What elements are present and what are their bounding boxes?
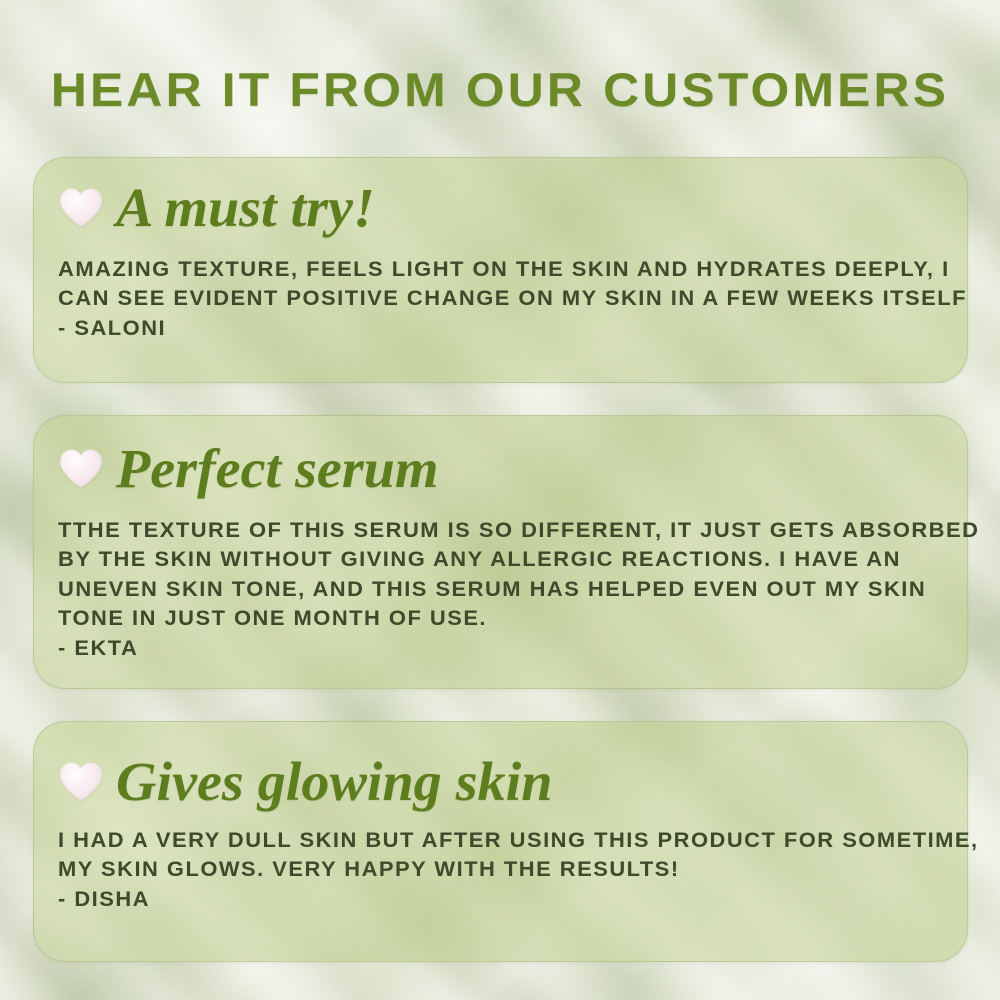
poster-content: HEAR IT FROM OUR CUSTOMERS A must try!	[0, 0, 1000, 1000]
testimonial-line: TTHE TEXTURE OF THIS SERUM IS SO DIFFERE…	[58, 516, 961, 545]
testimonial-line: I HAD A VERY DULL SKIN BUT AFTER USING T…	[58, 826, 961, 855]
testimonial-header: Gives glowing skin	[58, 722, 943, 809]
testimonial-title: A must try!	[116, 180, 375, 235]
testimonial-card: Gives glowing skin I HAD A VERY DULL SKI…	[33, 721, 968, 962]
testimonial-line: TONE IN JUST ONE MONTH OF USE.	[58, 604, 961, 633]
testimonial-author: - DISHA	[58, 885, 961, 914]
testimonial-author: - SALONI	[58, 314, 961, 343]
page-title: HEAR IT FROM OUR CUSTOMERS	[0, 66, 1000, 113]
heart-icon	[58, 760, 104, 804]
heart-icon	[58, 447, 104, 491]
testimonial-header: A must try!	[58, 158, 943, 235]
testimonial-poster: HEAR IT FROM OUR CUSTOMERS A must try!	[0, 0, 1000, 1000]
testimonial-title: Gives glowing skin	[116, 754, 552, 809]
testimonial-line: CAN SEE EVIDENT POSITIVE CHANGE ON MY SK…	[58, 284, 961, 313]
testimonial-line: MY SKIN GLOWS. VERY HAPPY WITH THE RESUL…	[58, 855, 961, 884]
testimonial-line: BY THE SKIN WITHOUT GIVING ANY ALLERGIC …	[58, 545, 961, 574]
testimonial-body: I HAD A VERY DULL SKIN BUT AFTER USING T…	[58, 826, 961, 914]
testimonial-line: UNEVEN SKIN TONE, AND THIS SERUM HAS HEL…	[58, 575, 961, 604]
testimonial-card: Perfect serum TTHE TEXTURE OF THIS SERUM…	[33, 415, 968, 689]
testimonial-title: Perfect serum	[116, 441, 438, 496]
testimonial-body: TTHE TEXTURE OF THIS SERUM IS SO DIFFERE…	[58, 516, 961, 663]
testimonial-body: AMAZING TEXTURE, FEELS LIGHT ON THE SKIN…	[58, 255, 961, 343]
heart-icon	[58, 186, 104, 230]
testimonial-card: A must try! AMAZING TEXTURE, FEELS LIGHT…	[33, 157, 968, 383]
testimonial-author: - EKTA	[58, 634, 961, 663]
testimonial-line: AMAZING TEXTURE, FEELS LIGHT ON THE SKIN…	[58, 255, 961, 284]
testimonial-header: Perfect serum	[58, 416, 943, 496]
